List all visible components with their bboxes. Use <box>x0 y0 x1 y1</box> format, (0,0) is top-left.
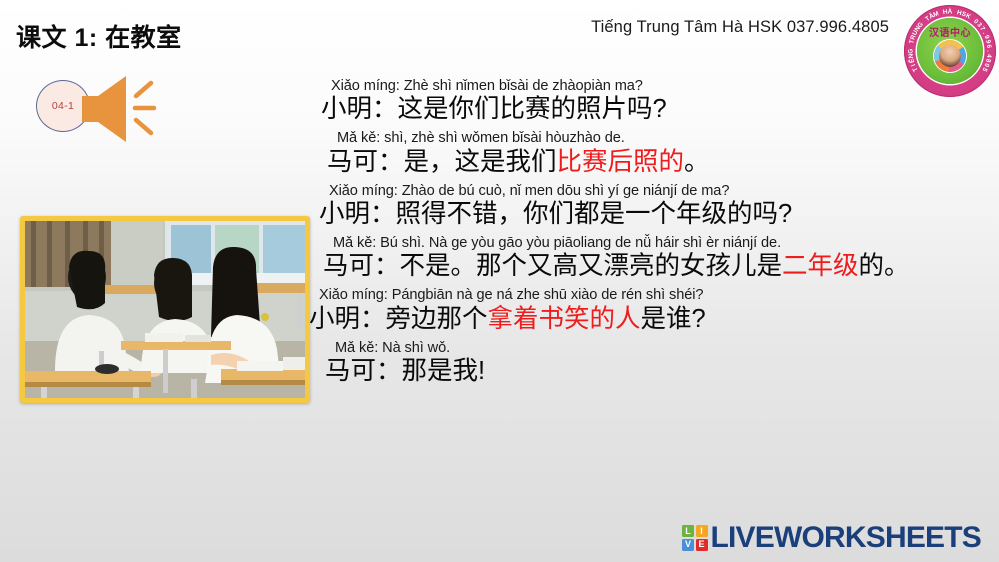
audio-track-widget[interactable]: 04-1 <box>28 74 168 144</box>
dialogue-hanzi-segment: 。 <box>684 148 710 176</box>
dialogue-hanzi-segment: 马可：是，这是我们 <box>327 148 557 176</box>
brand-ring-glyph: . <box>985 50 992 52</box>
dialogue-pinyin: Mǎ kě: Nà shì wǒ. <box>335 340 995 357</box>
dialogue-hanzi: 小明：这是你们比赛的照片吗? <box>321 94 995 125</box>
dialogue-hanzi-segment: 小明：这是你们比赛的照片吗? <box>321 95 667 123</box>
dialogue-pinyin: Mǎ kě: Bú shì. Nà ge yòu gāo yòu piāolia… <box>333 235 995 252</box>
brand-ring-glyph: N <box>908 53 916 59</box>
dialogue-line: Xiǎo míng: Zhào de bú cuò, nǐ men dōu sh… <box>305 183 995 230</box>
classroom-photo <box>20 216 310 403</box>
dialogue-line: Mǎ kě: shì, zhè shì wǒmen bǐsài hòuzhào … <box>305 130 995 177</box>
dialogue-pinyin: Xiǎo míng: Zhào de bú cuò, nǐ men dōu sh… <box>329 183 995 200</box>
dialogue-hanzi-segment: 小明：照得不错，你们都是一个年级的吗? <box>319 200 792 228</box>
dialogue-hanzi: 马可：不是。那个又高又漂亮的女孩儿是二年级的。 <box>323 251 995 282</box>
dialogue-line: Mǎ kě: Nà shì wǒ.马可：那是我! <box>305 340 995 387</box>
dialogue-hanzi-segment: 的。 <box>859 252 910 280</box>
dialogue-hanzi-segment: 马可：那是我! <box>325 357 485 385</box>
dialogue-hanzi-segment: 是谁? <box>641 305 706 333</box>
brand-logo-inner-disc: 汉语中心 <box>917 18 983 84</box>
center-name-text: Tiếng Trung Tâm Hà HSK 037.996.4805 <box>591 18 889 37</box>
dialogue-pinyin: Xiǎo míng: Zhè shì nǐmen bǐsài de zhàopi… <box>331 78 995 95</box>
brand-ring-glyph: À <box>948 9 953 16</box>
dialogue-line: Xiǎo míng: Pángbiān nà ge ná zhe shū xià… <box>305 287 995 334</box>
sound-waves-icon <box>132 80 166 136</box>
speaker-icon[interactable] <box>78 74 134 144</box>
brand-logo-hanzi: 汉语中心 <box>917 24 983 39</box>
dialogue-pinyin: Mǎ kě: shì, zhè shì wǒmen bǐsài hòuzhào … <box>337 130 995 147</box>
liveworksheets-wordmark: LIVEWORKSHEETS <box>711 523 982 553</box>
logo-tile-e: E <box>696 539 708 551</box>
dialogue-line: Xiǎo míng: Zhè shì nǐmen bǐsài de zhàopi… <box>305 78 995 125</box>
dialogue-hanzi-segment: 马可：不是。那个又高又漂亮的女孩儿是 <box>323 252 782 280</box>
dialogue-hanzi-highlight: 二年级 <box>782 252 859 280</box>
classroom-photo-image <box>25 221 305 398</box>
brand-ring-glyph: 6 <box>985 44 992 49</box>
dialogue-line: Mǎ kě: Bú shì. Nà ge yòu gāo yòu piāolia… <box>305 235 995 282</box>
dialogue-hanzi-highlight: 比赛后照的 <box>557 148 685 176</box>
dialogue-pinyin: Xiǎo míng: Pángbiān nà ge ná zhe shū xià… <box>319 287 995 304</box>
logo-tile-i: I <box>696 525 708 537</box>
logo-tile-v: V <box>682 539 694 551</box>
brand-ring-glyph <box>908 45 915 48</box>
dialogue-hanzi: 小明：旁边那个拿着书笑的人是谁? <box>309 304 995 335</box>
dialogue-list: Xiǎo míng: Zhè shì nǐmen bǐsài de zhàopi… <box>305 78 995 392</box>
dialogue-hanzi-segment: 小明：旁边那个 <box>309 305 488 333</box>
audio-track-label: 04-1 <box>52 100 74 112</box>
dialogue-hanzi: 小明：照得不错，你们都是一个年级的吗? <box>319 199 995 230</box>
liveworksheets-logo: L I V E LIVEWORKSHEETS <box>682 523 981 553</box>
logo-tile-l: L <box>682 525 694 537</box>
brand-ring-glyph: T <box>912 66 920 73</box>
dialogue-hanzi-highlight: 拿着书笑的人 <box>488 305 641 333</box>
dialogue-hanzi: 马可：那是我! <box>325 356 995 387</box>
page-title: 课文 1: 在教室 <box>16 18 182 54</box>
brand-ring-glyph: G <box>907 49 914 54</box>
brand-logo-portrait <box>934 40 966 72</box>
liveworksheets-logo-tiles: L I V E <box>682 525 708 551</box>
dialogue-hanzi: 马可：是，这是我们比赛后照的。 <box>327 147 995 178</box>
